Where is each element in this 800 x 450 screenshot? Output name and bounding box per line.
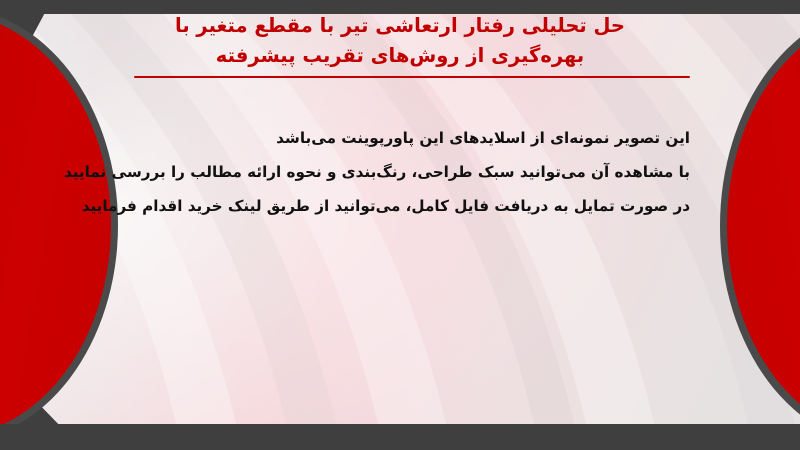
slide-body-text: این تصویر نمونه‌ای از اسلایدهای این پاور…	[120, 122, 690, 223]
slide-title: حل تحلیلی رفتار ارتعاشی تیر با مقطع متغی…	[100, 11, 700, 70]
slide-content: حل تحلیلی رفتار ارتعاشی تیر با مقطع متغی…	[0, 0, 800, 450]
slide-title-line-1: حل تحلیلی رفتار ارتعاشی تیر با مقطع متغی…	[100, 11, 700, 41]
slide-title-line-2: بهره‌گیری از روش‌های تقریب پیشرفته	[100, 41, 700, 71]
title-underline-rule	[134, 76, 690, 78]
presentation-slide: حل تحلیلی رفتار ارتعاشی تیر با مقطع متغی…	[0, 0, 800, 450]
body-line-1: این تصویر نمونه‌ای از اسلایدهای این پاور…	[120, 122, 690, 156]
body-line-3: در صورت تمایل به دریافت فایل کامل، می‌تو…	[120, 190, 690, 224]
body-line-2: با مشاهده آن می‌توانید سبک طراحی، رنگ‌بن…	[120, 156, 690, 190]
